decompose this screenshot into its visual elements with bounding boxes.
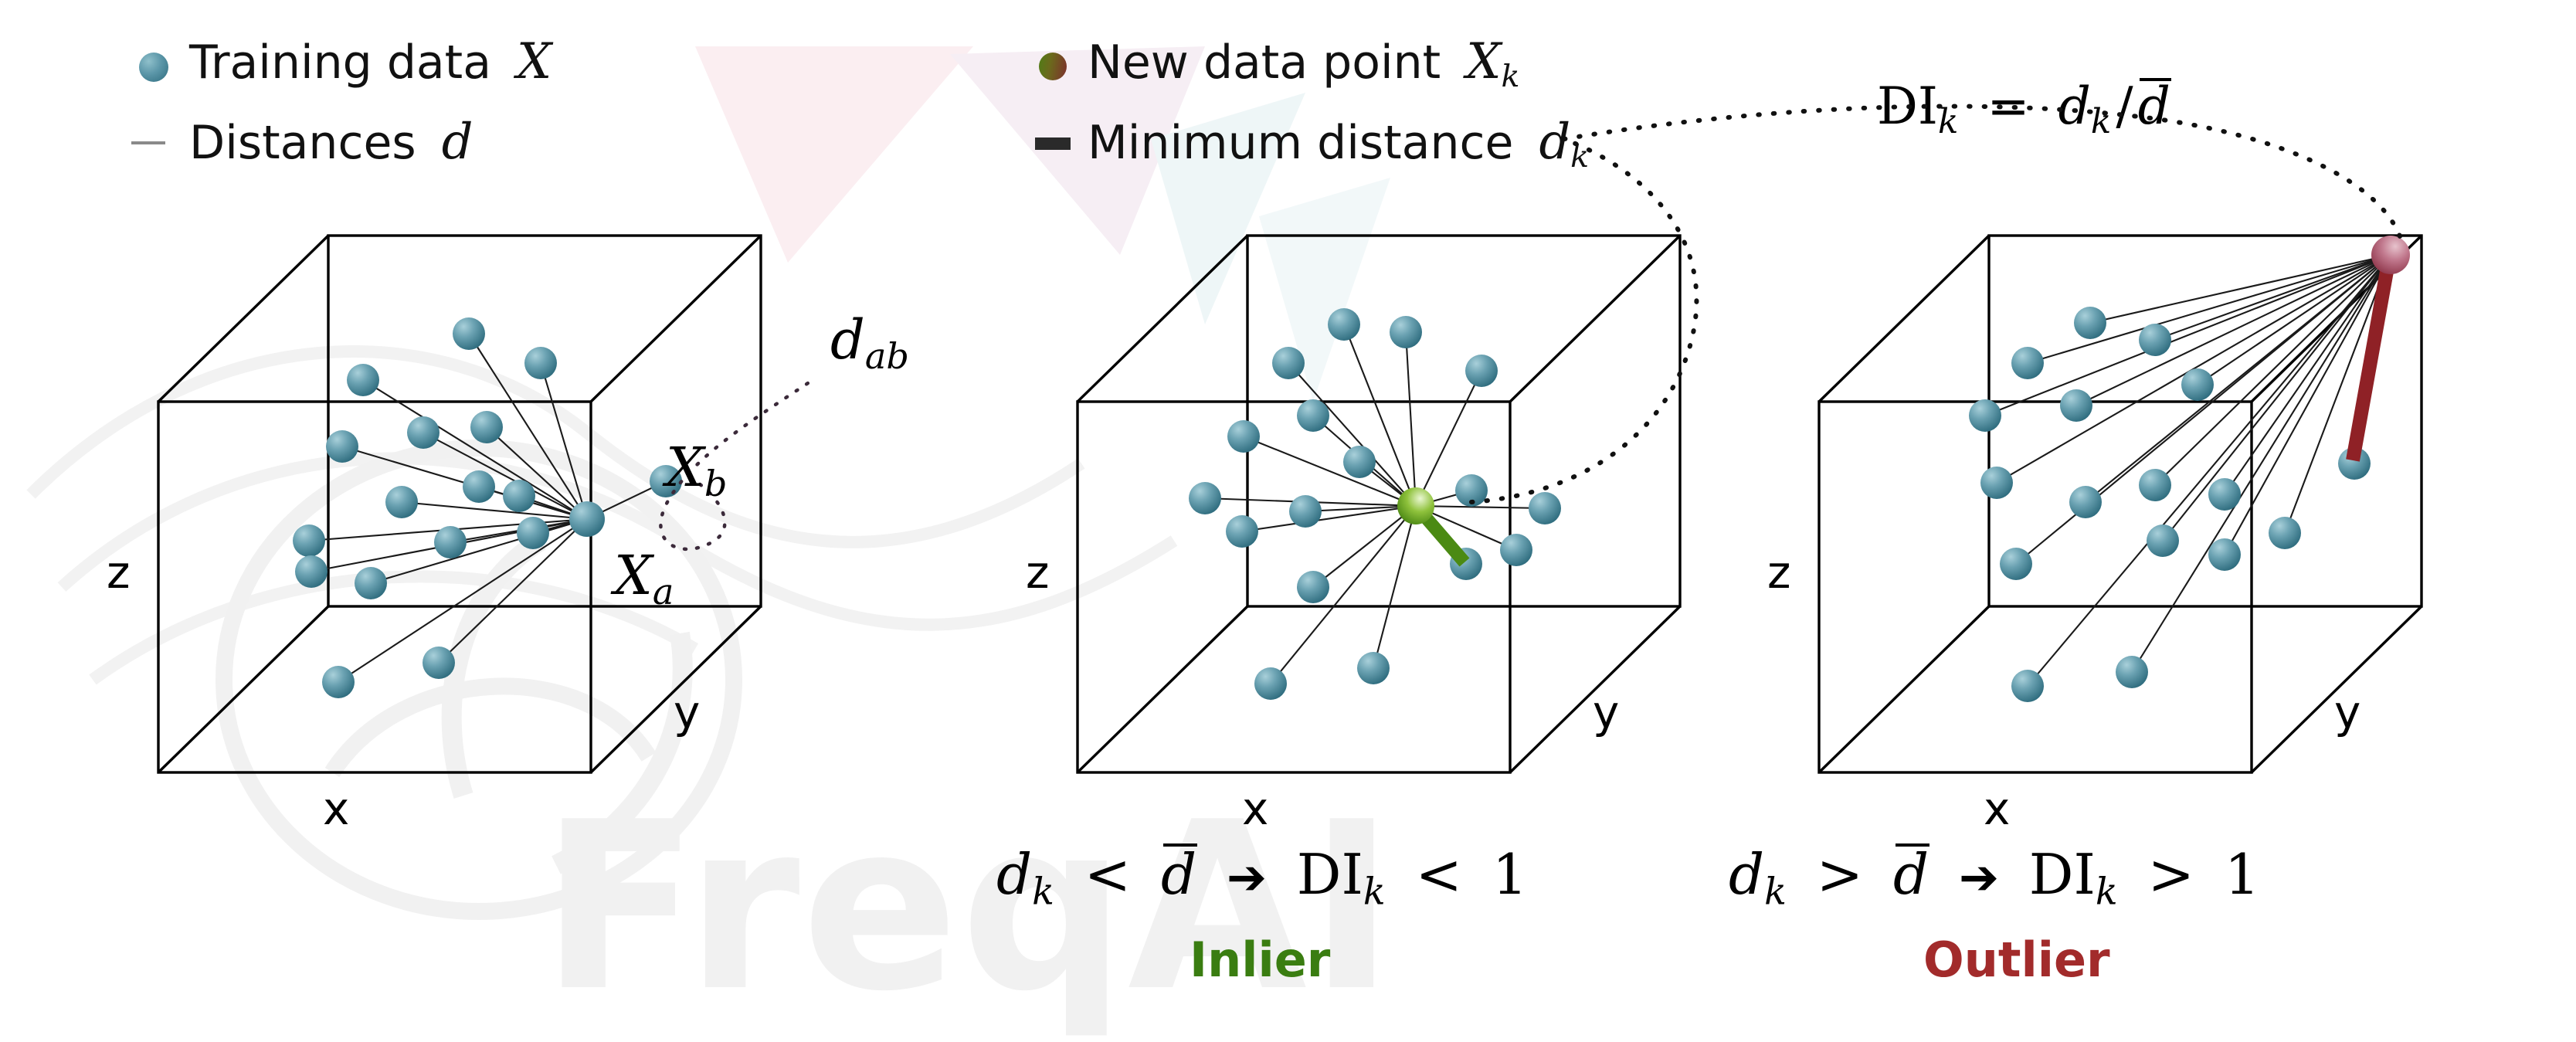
panel-inlier-cube <box>1078 139 1696 772</box>
caption-outlier-dk: d <box>1729 842 1764 907</box>
label-x-b-symbol: X <box>666 436 704 499</box>
callout-line-outlier <box>1564 107 2402 243</box>
label-x-a-sub: a <box>653 571 674 613</box>
verdict-inlier: Inlier <box>1190 936 1330 984</box>
caption-inlier-relation: < <box>1072 842 1143 907</box>
caption-outlier-di-sub: k <box>2096 871 2118 913</box>
caption-inlier-dbar: d <box>1161 847 1196 902</box>
caption-outlier-relation: > <box>1804 842 1875 907</box>
label-d-ab-sub: ab <box>865 335 909 377</box>
diagram-canvas: FreqAI Training data X Distances d New d… <box>0 0 2576 1022</box>
panel-outlier-axis-z: z <box>1767 550 1790 595</box>
caption-inlier-dk: d <box>996 842 1032 907</box>
caption-outlier-dk-sub: k <box>1764 871 1787 913</box>
caption-inlier-relation2: < <box>1403 842 1475 907</box>
panel-outlier-cube <box>1564 107 2422 772</box>
caption-inlier-arrow: ➔ <box>1214 850 1279 905</box>
label-x-a-symbol: X <box>614 544 653 607</box>
callout-line-inlier <box>1471 139 1696 502</box>
label-d-ab: dab <box>830 313 909 374</box>
training-points <box>293 317 682 698</box>
caption-inlier-formula: dk < d ➔ DIk < 1 <box>996 847 1528 911</box>
caption-outlier-formula: dk > d ➔ DIk > 1 <box>1729 847 2260 911</box>
training-reference-point-xa <box>569 501 605 537</box>
caption-outlier-value: 1 <box>2225 842 2260 907</box>
caption-inlier-dk-sub: k <box>1032 871 1054 913</box>
caption-outlier-relation2: > <box>2136 842 2207 907</box>
caption-inlier-di: DI <box>1297 842 1363 907</box>
panel-outlier-axis-y: y <box>2334 690 2360 735</box>
caption-inlier-value: 1 <box>1492 842 1528 907</box>
distance-lines-outlier <box>1985 255 2391 686</box>
verdict-outlier: Outlier <box>1923 936 2110 984</box>
panel-inlier-axis-x: x <box>1242 786 1268 831</box>
label-x-b: Xb <box>666 440 727 501</box>
panel-inlier-axis-y: y <box>1593 690 1619 735</box>
caption-outlier-arrow: ➔ <box>1946 850 2011 905</box>
panel-training-axis-y: y <box>674 690 700 735</box>
panel-training-axis-x: x <box>323 786 349 831</box>
caption-outlier-di: DI <box>2029 842 2096 907</box>
label-x-a: Xa <box>614 548 674 609</box>
outlier-training-points <box>1969 307 2371 702</box>
new-data-point-outlier <box>2371 236 2410 274</box>
label-x-b-sub: b <box>704 463 728 504</box>
caption-inlier-di-sub: k <box>1363 871 1386 913</box>
new-data-point-inlier <box>1397 487 1434 524</box>
caption-outlier-dbar: d <box>1893 847 1929 902</box>
panel-inlier-axis-z: z <box>1026 550 1049 595</box>
panel-training-axis-z: z <box>107 550 130 595</box>
label-d-ab-symbol: d <box>830 308 865 372</box>
panel-outlier-axis-x: x <box>1984 786 2010 831</box>
